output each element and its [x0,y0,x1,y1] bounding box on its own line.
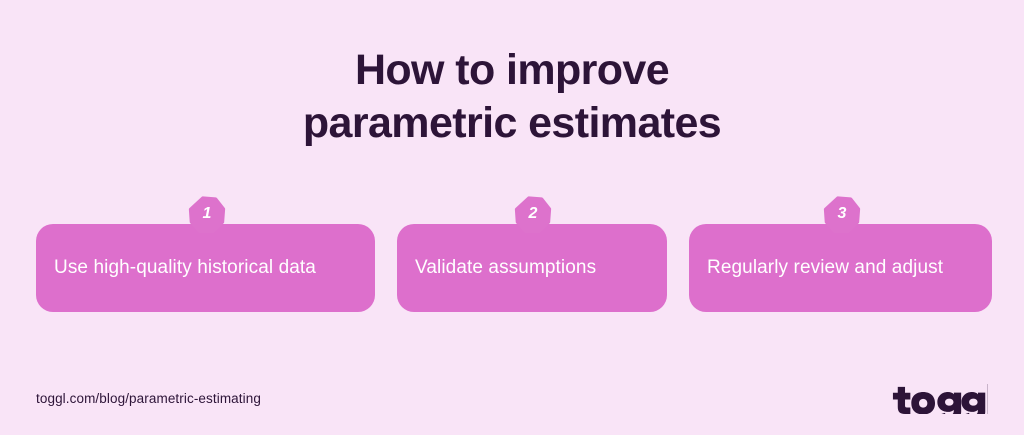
steps-row: 1 Use high-quality historical data 2 Val… [36,196,988,312]
step-badge-number-1: 1 [202,206,211,222]
toggl-wordmark-logo [891,384,988,414]
footer: toggl.com/blog/parametric-estimating [36,381,988,417]
step-item-1: 1 Use high-quality historical data [36,196,375,312]
step-badge-number-2: 2 [528,206,537,222]
step-badge-number-3: 3 [837,206,846,222]
step-item-3: 3 Regularly review and adjust [689,196,992,312]
step-badge-2: 2 [514,196,552,234]
step-card-label-3: Regularly review and adjust [707,256,943,280]
step-card-label-1: Use high-quality historical data [54,256,316,280]
source-url: toggl.com/blog/parametric-estimating [36,390,261,408]
step-card-3[interactable]: Regularly review and adjust [689,224,992,312]
step-badge-1: 1 [188,196,226,234]
step-item-2: 2 Validate assumptions [397,196,667,312]
step-card-label-2: Validate assumptions [415,256,596,280]
page-title-line-1: How to improve [0,44,1024,97]
page-title-line-2: parametric estimates [0,97,1024,150]
page-title: How to improve parametric estimates [0,44,1024,150]
step-badge-3: 3 [823,196,861,234]
infographic-poster: How to improve parametric estimates 1 Us… [0,0,1024,435]
step-card-1[interactable]: Use high-quality historical data [36,224,375,312]
step-card-2[interactable]: Validate assumptions [397,224,667,312]
